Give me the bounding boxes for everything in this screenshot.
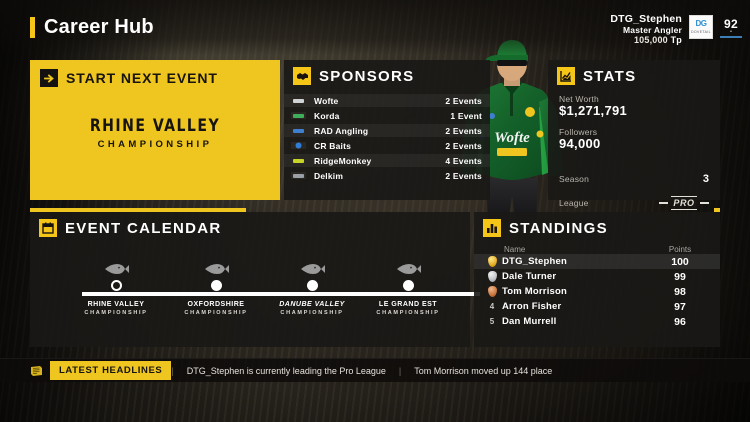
league-badge: PRO [659, 196, 709, 210]
standings-player-name: Dale Turner [502, 271, 654, 282]
calendar-icon [39, 219, 57, 237]
standings-rank: 5 [482, 317, 502, 326]
calendar-timeline: RHINE VALLEY CHAMPIONSHIP OXFORDSHIRE CH… [30, 263, 470, 329]
league-badge-mid: PRO [672, 198, 695, 208]
sponsor-logo-icon [291, 172, 306, 179]
stats-header: STATS [548, 60, 720, 85]
sponsor-logo-icon [291, 127, 306, 134]
event-calendar-panel: EVENT CALENDAR RHINE VALLEY CHAMPIONSHIP [30, 212, 470, 347]
league-stat: League PRO [548, 196, 720, 210]
standings-points: 100 [654, 256, 706, 268]
avatar-logo: DG [696, 20, 707, 28]
league-badge-line-top [671, 196, 697, 197]
calendar-event-subtitle: CHAMPIONSHIP [60, 310, 172, 316]
standings-row[interactable]: Dale Turner 99 [474, 269, 720, 284]
stats-panel: STATS Net Worth $1,271,791 Followers 94,… [548, 60, 720, 200]
start-next-event-button[interactable]: START NEXT EVENT RHINE VALLEY CHAMPIONSH… [30, 60, 280, 200]
avatar[interactable]: DG DOVETAIL [689, 15, 713, 39]
player-tp-unit: Tp [671, 35, 682, 45]
bar-chart-icon [483, 219, 501, 237]
standings-row[interactable]: Tom Morrison 98 [474, 284, 720, 299]
fish-icon [299, 263, 325, 275]
standings-title: STANDINGS [509, 220, 608, 237]
start-next-event-label: START NEXT EVENT [66, 70, 218, 86]
title-accent-bar [30, 17, 35, 38]
timeline-dot-current[interactable] [111, 280, 122, 291]
standings-rank: 4 [482, 302, 502, 311]
level-progress-bar [720, 36, 742, 38]
timeline-dot[interactable] [307, 280, 318, 291]
sponsors-list: Wofte 2 Events Korda 1 Event RAD Angling… [284, 94, 490, 182]
sponsor-events: 2 Events [445, 96, 482, 106]
standings-points: 96 [654, 316, 706, 328]
gold-medal-icon [488, 256, 497, 267]
sponsor-row[interactable]: Korda 1 Event [284, 109, 490, 122]
season-value: 3 [703, 173, 709, 185]
fish-icon [395, 263, 421, 275]
latest-headlines-bar: LATEST HEADLINES irrently in 1st place |… [0, 358, 750, 382]
calendar-event-node[interactable]: LE GRAND EST CHAMPIONSHIP [352, 263, 464, 316]
calendar-event-node[interactable]: RHINE VALLEY CHAMPIONSHIP [60, 263, 172, 316]
chart-icon [557, 67, 575, 85]
sponsor-events: 1 Event [450, 111, 482, 121]
sponsor-name: Wofte [314, 96, 445, 106]
career-hub-screen: Wofte Career Hub DTG_Stephen Master Angl… [0, 0, 750, 422]
standings-rank-number: 5 [490, 317, 494, 326]
level-group: 92 • [720, 17, 742, 38]
bronze-medal-icon [488, 286, 497, 297]
sponsor-events: 2 Events [445, 126, 482, 136]
sponsor-logo-icon [291, 157, 306, 164]
level-dot-icon: • [720, 31, 742, 34]
standings-row[interactable]: DTG_Stephen 100 [474, 254, 720, 269]
player-tp-value: 105,000 [634, 35, 668, 45]
player-tp-group: 105,000 Tp [610, 35, 682, 46]
standings-points: 97 [654, 301, 706, 313]
sponsor-events: 2 Events [445, 171, 482, 181]
avatar-sub-label: DOVETAIL [691, 30, 711, 34]
season-label: Season [559, 174, 589, 184]
handshake-icon [293, 67, 311, 85]
followers-value: 94,000 [559, 136, 709, 151]
calendar-event-name: OXFORDSHIRE [163, 299, 268, 308]
standings-panel: STANDINGS Name Points DTG_Stephen 100 Da… [474, 212, 720, 347]
standings-row[interactable]: 5 Dan Murrell 96 [474, 314, 720, 329]
svg-text:Wofte: Wofte [494, 130, 530, 146]
sponsor-name: Delkim [314, 171, 445, 181]
standings-rank [482, 286, 502, 297]
sponsor-logo-icon [291, 112, 306, 119]
next-event-name: RHINE VALLEY [40, 116, 270, 136]
sponsor-name: CR Baits [314, 141, 445, 151]
standings-accent-bar [714, 208, 720, 212]
arrow-right-icon [40, 69, 58, 87]
league-label: League [559, 198, 589, 208]
sponsor-row[interactable]: Wofte 2 Events [284, 94, 490, 107]
player-text-group: DTG_Stephen Master Angler 105,000 Tp [610, 13, 682, 46]
headlines-items: irrently in 1st place | DTG_Stephen is c… [171, 359, 552, 383]
standings-player-name: Arron Fisher [502, 301, 654, 312]
sponsor-row[interactable]: Delkim 2 Events [284, 169, 490, 182]
fish-icon [103, 263, 129, 275]
calendar-event-name: DANUBE VALLEY [259, 299, 364, 308]
calendar-event-name: LE GRAND EST [355, 299, 460, 308]
silver-medal-icon [488, 271, 497, 282]
standings-col-points: Points [654, 245, 706, 254]
standings-player-name: Tom Morrison [502, 286, 654, 297]
start-next-event-body: RHINE VALLEY CHAMPIONSHIP [30, 116, 280, 150]
headline-item: DTG_Stephen is currently leading the Pro… [187, 366, 386, 376]
standings-player-name: DTG_Stephen [502, 256, 654, 267]
sponsor-name: RidgeMonkey [314, 156, 445, 166]
page-title-group: Career Hub [30, 16, 154, 39]
headlines-ticker[interactable]: irrently in 1st place | DTG_Stephen is c… [171, 359, 750, 383]
standings-rank [482, 271, 502, 282]
standings-player-name: Dan Murrell [502, 316, 654, 327]
stats-title: STATS [583, 68, 636, 85]
league-badge-line-right [700, 202, 709, 204]
standings-column-headers: Name Points [474, 245, 720, 254]
headline-separator: | [171, 366, 186, 376]
net-worth-value: $1,271,791 [559, 103, 709, 118]
latest-headlines-tag: LATEST HEADLINES [50, 361, 171, 380]
sponsor-name: Korda [314, 111, 450, 121]
sponsor-logo-icon [291, 142, 306, 149]
league-badge-line-bottom [671, 209, 697, 210]
standings-row[interactable]: 4 Arron Fisher 97 [474, 299, 720, 314]
followers-stat: Followers 94,000 [548, 127, 720, 151]
sponsor-name: RAD Angling [314, 126, 445, 136]
league-badge-stack: PRO [671, 196, 697, 210]
sponsor-row[interactable]: RidgeMonkey 4 Events [284, 154, 490, 167]
sponsors-panel: SPONSORS Wofte 2 Events Korda 1 Event RA… [284, 60, 490, 200]
headline-separator: | [386, 366, 414, 376]
page-title: Career Hub [44, 16, 154, 39]
league-value: PRO [672, 198, 695, 208]
timeline-dot[interactable] [211, 280, 222, 291]
calendar-accent-bar [30, 208, 246, 212]
standings-points: 98 [654, 286, 706, 298]
league-badge-line-left [659, 202, 668, 204]
standings-rank-number: 4 [490, 302, 494, 311]
player-rank-title: Master Angler [610, 25, 682, 35]
standings-rank [482, 256, 502, 267]
calendar-header: EVENT CALENDAR [30, 212, 470, 237]
calendar-event-name: RHINE VALLEY [63, 299, 168, 308]
sponsor-events: 2 Events [445, 141, 482, 151]
sponsor-logo-icon [291, 97, 306, 104]
sponsors-title: SPONSORS [319, 68, 414, 85]
headline-item: Tom Morrison moved up 144 place [414, 366, 552, 376]
sponsors-header: SPONSORS [284, 60, 490, 85]
standings-points: 99 [654, 271, 706, 283]
net-worth-stat: Net Worth $1,271,791 [548, 94, 720, 118]
timeline-dot[interactable] [403, 280, 414, 291]
top-bar: Career Hub DTG_Stephen Master Angler 105… [0, 0, 750, 55]
standings-header: STANDINGS [474, 212, 720, 237]
sponsor-row[interactable]: CR Baits 2 Events [284, 139, 490, 152]
start-next-event-header: START NEXT EVENT [30, 60, 280, 87]
calendar-event-subtitle: CHAMPIONSHIP [352, 310, 464, 316]
fish-icon [203, 263, 229, 275]
newspaper-icon [30, 365, 44, 377]
next-event-subtitle: CHAMPIONSHIP [30, 139, 280, 150]
sponsor-events: 4 Events [445, 156, 482, 166]
standings-col-name: Name [504, 245, 654, 254]
player-summary[interactable]: DTG_Stephen Master Angler 105,000 Tp DG … [610, 13, 742, 46]
calendar-title: EVENT CALENDAR [65, 220, 222, 237]
season-stat: Season 3 [548, 173, 720, 185]
sponsor-row[interactable]: RAD Angling 2 Events [284, 124, 490, 137]
player-name: DTG_Stephen [610, 13, 682, 25]
